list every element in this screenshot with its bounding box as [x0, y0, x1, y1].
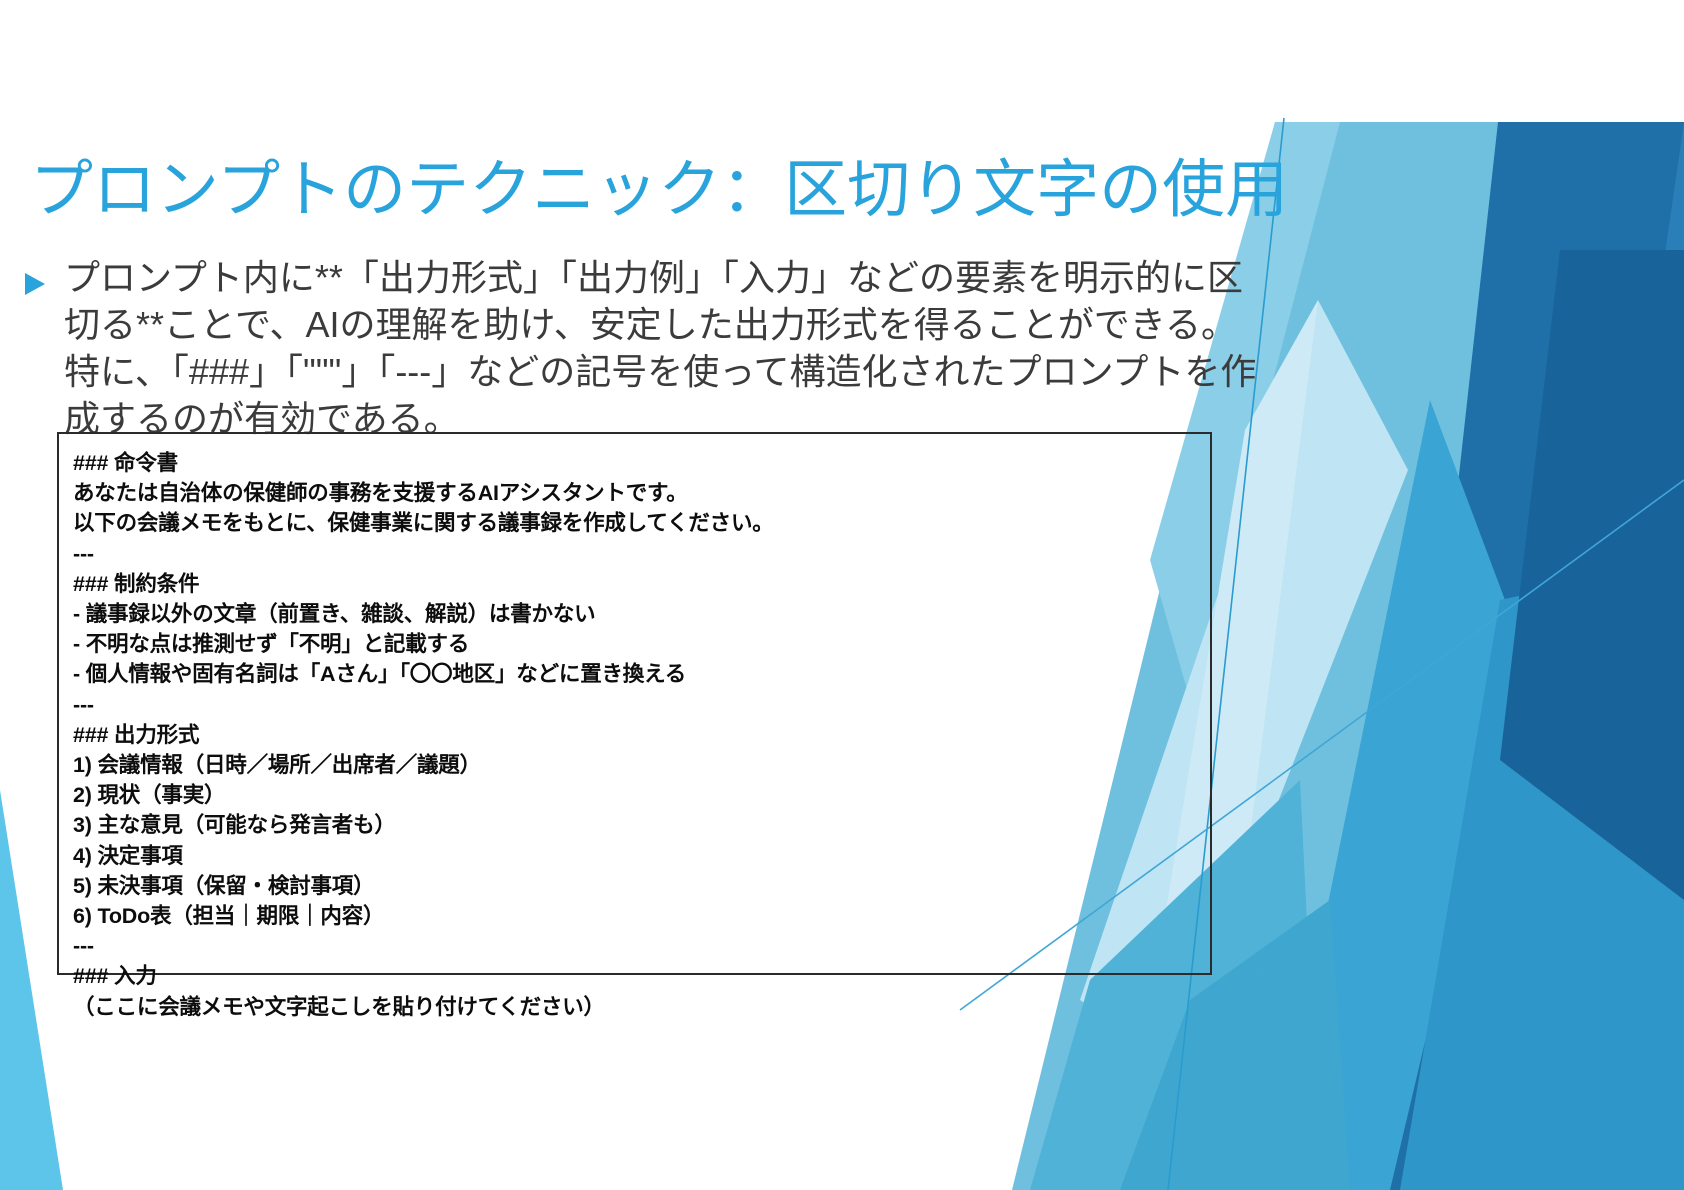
triangle-right-bullet-icon [22, 270, 48, 298]
deco-shape-mid-right [1530, 122, 1684, 1190]
prompt-example-text: ### 命令書 あなたは自治体の保健師の事務を支援するAIアシスタントです。 以… [73, 448, 1202, 1022]
deco-shape-cyan-lower [1400, 560, 1684, 1190]
deco-shape-deep-right [1500, 250, 1684, 900]
deco-shape-cyan-mid [1270, 400, 1520, 1190]
page-title: プロンプトのテクニック：区切り文字の使用 [30, 152, 1250, 228]
deco-shape-left-wedge [0, 790, 63, 1190]
prompt-example-box: ### 命令書 あなたは自治体の保健師の事務を支援するAIアシスタントです。 以… [57, 432, 1212, 975]
deco-shape-dark-right [1215, 122, 1684, 1190]
body-paragraph: プロンプト内に**「出力形式」「出力例」「入力」などの要素を明示的に区切る**こ… [64, 254, 1262, 442]
page-number: 43 [1252, 962, 1312, 986]
body-bullet-item: プロンプト内に**「出力形式」「出力例」「入力」などの要素を明示的に区切る**こ… [22, 254, 1262, 442]
slide-canvas: プロンプトのテクニック：区切り文字の使用 プロンプト内に**「出力形式」「出力例… [0, 0, 1684, 1190]
